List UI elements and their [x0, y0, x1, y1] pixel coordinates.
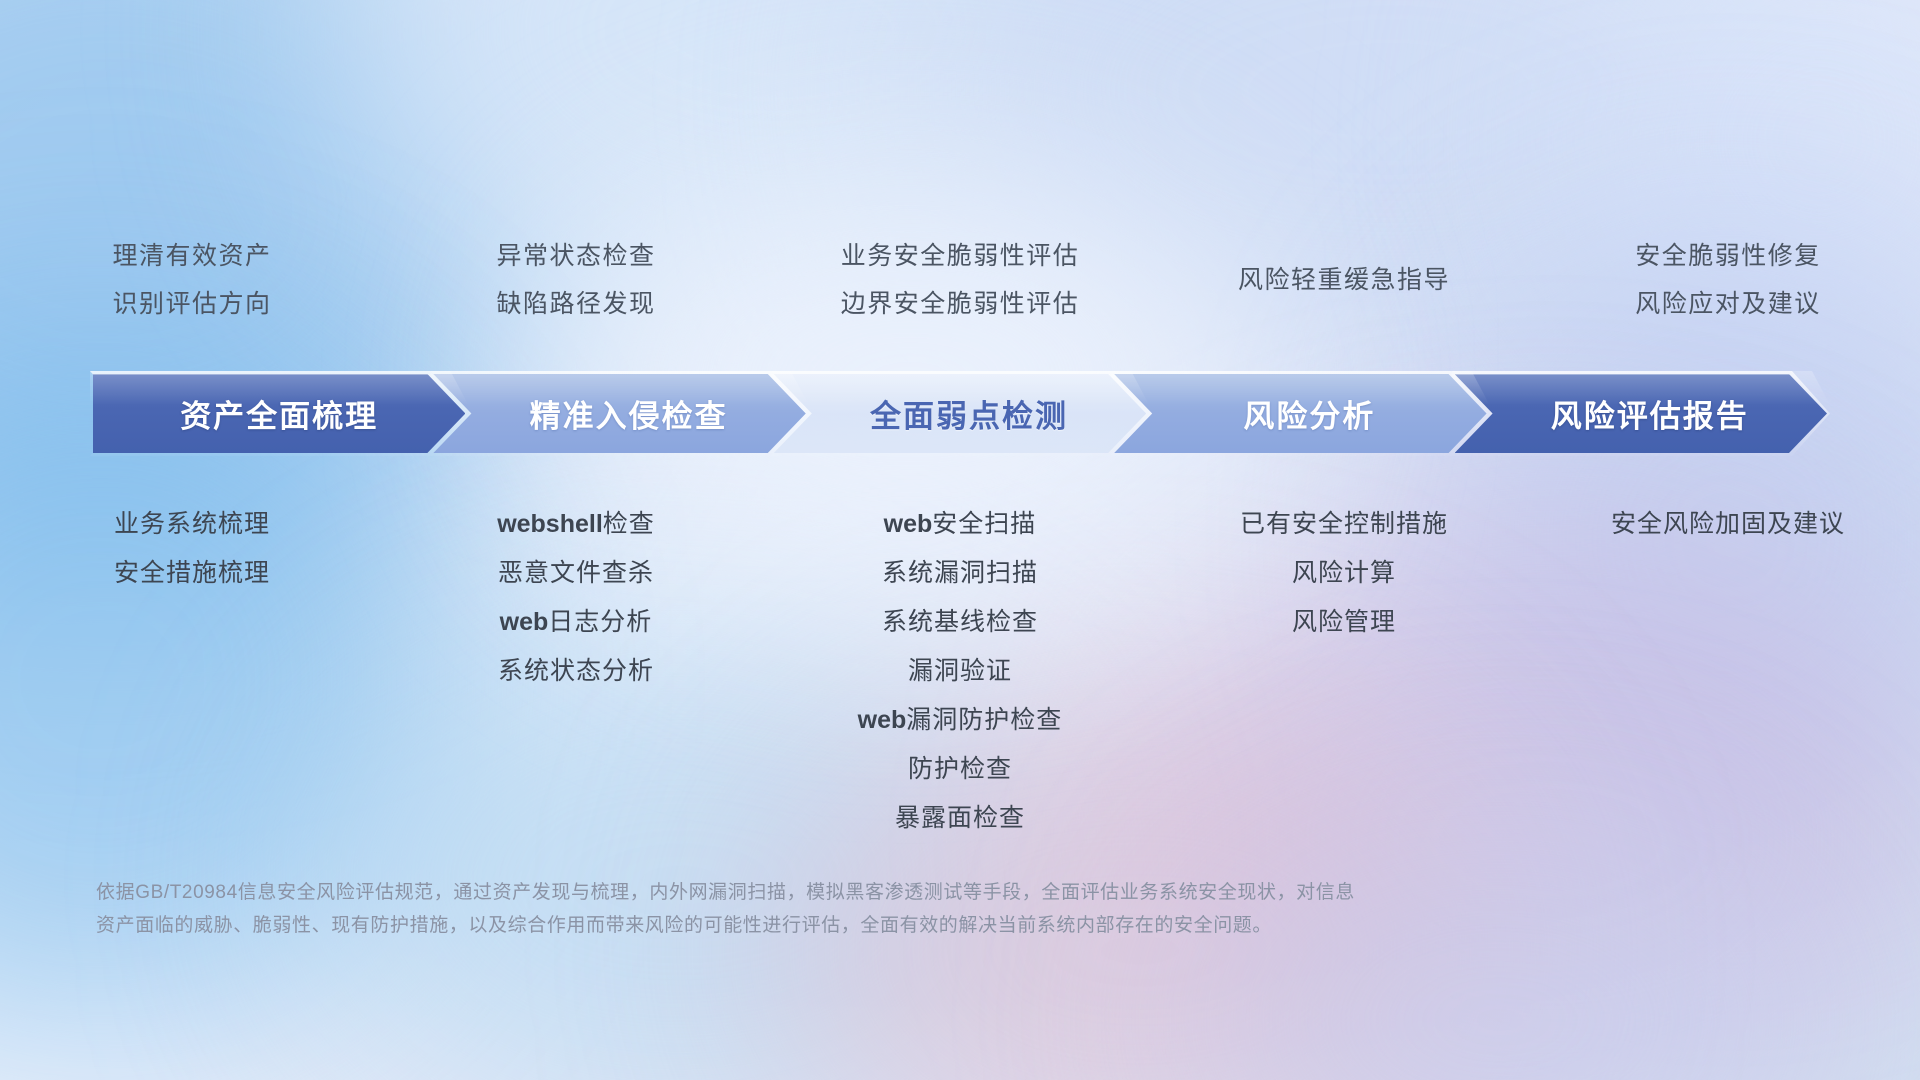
list-item-text: 安全措施梳理	[114, 559, 270, 587]
stage-label: 风险评估报告	[1551, 391, 1749, 436]
list-item-text: 日志分析	[548, 608, 652, 636]
top-label: 识别评估方向	[0, 280, 384, 328]
top-labels-asset-inventory: 理清有效资产识别评估方向	[0, 232, 384, 328]
list-item-text: 安全风险加固及建议	[1611, 510, 1845, 538]
footer-line-2: 资产面临的威胁、脆弱性、现有防护措施，以及综合作用而带来风险的可能性进行评估，全…	[96, 909, 1636, 942]
stage-label: 全面弱点检测	[870, 391, 1068, 436]
footer-line-1: 依据GB/T20984信息安全风险评估规范，通过资产发现与梳理，内外网漏洞扫描，…	[96, 876, 1636, 909]
list-item-prefix: web	[884, 510, 933, 538]
list-item-text: 漏洞防护检查	[906, 706, 1062, 734]
stage-label: 资产全面梳理	[180, 391, 378, 436]
top-label: 业务安全脆弱性评估	[768, 232, 1152, 280]
list-item: web安全扫描	[768, 500, 1152, 549]
list-item-text: 风险计算	[1292, 559, 1396, 587]
detail-list-weakness-detection: web安全扫描系统漏洞扫描系统基线检查漏洞验证web漏洞防护检查防护检查暴露面检…	[768, 500, 1152, 843]
detail-list-risk-report: 安全风险加固及建议	[1536, 500, 1920, 843]
bottom-list-row: 业务系统梳理安全措施梳理webshell检查恶意文件查杀web日志分析系统状态分…	[0, 500, 1920, 843]
list-item: 恶意文件查杀	[384, 549, 768, 598]
list-item: 风险管理	[1152, 598, 1536, 647]
footer-description: 依据GB/T20984信息安全风险评估规范，通过资产发现与梳理，内外网漏洞扫描，…	[96, 876, 1636, 942]
top-label: 缺陷路径发现	[384, 280, 768, 328]
top-labels-weakness-detection: 业务安全脆弱性评估边界安全脆弱性评估	[768, 232, 1152, 328]
stage-arrow-risk-report[interactable]: 风险评估报告	[1452, 371, 1830, 456]
list-item: 系统状态分析	[384, 647, 768, 696]
list-item-prefix: web	[500, 608, 549, 636]
stage-arrow-asset-inventory[interactable]: 资产全面梳理	[90, 371, 468, 456]
list-item: 防护检查	[768, 745, 1152, 794]
stage-label: 精准入侵检查	[530, 391, 728, 436]
top-labels-risk-analysis: 风险轻重缓急指导	[1152, 232, 1536, 328]
list-item: 业务系统梳理	[0, 500, 384, 549]
list-item-text: 漏洞验证	[908, 657, 1012, 685]
list-item: 安全风险加固及建议	[1536, 500, 1920, 549]
list-item-text: 恶意文件查杀	[498, 559, 654, 587]
top-labels-risk-report: 安全脆弱性修复风险应对及建议	[1536, 232, 1920, 328]
list-item-text: 系统基线检查	[882, 608, 1038, 636]
detail-list-asset-inventory: 业务系统梳理安全措施梳理	[0, 500, 384, 843]
list-item-text: 系统状态分析	[498, 657, 654, 685]
top-label: 边界安全脆弱性评估	[768, 280, 1152, 328]
top-labels-intrusion-check: 异常状态检查缺陷路径发现	[384, 232, 768, 328]
top-label: 风险轻重缓急指导	[1152, 256, 1536, 304]
list-item: 系统漏洞扫描	[768, 549, 1152, 598]
list-item: 风险计算	[1152, 549, 1536, 598]
stage-arrow-risk-analysis[interactable]: 风险分析	[1111, 371, 1489, 456]
list-item: web漏洞防护检查	[768, 696, 1152, 745]
list-item-text: 暴露面检查	[895, 804, 1025, 832]
stage-arrow-intrusion-check[interactable]: 精准入侵检查	[430, 371, 808, 456]
top-label: 理清有效资产	[0, 232, 384, 280]
list-item: 漏洞验证	[768, 647, 1152, 696]
list-item: web日志分析	[384, 598, 768, 647]
list-item-text: 检查	[603, 510, 655, 538]
detail-list-intrusion-check: webshell检查恶意文件查杀web日志分析系统状态分析	[384, 500, 768, 843]
detail-list-risk-analysis: 已有安全控制措施风险计算风险管理	[1152, 500, 1536, 843]
stage-label: 风险分析	[1243, 391, 1375, 436]
list-item-text: 防护检查	[908, 755, 1012, 783]
list-item-text: 安全扫描	[932, 510, 1036, 538]
top-label: 异常状态检查	[384, 232, 768, 280]
slide-canvas: 理清有效资产识别评估方向异常状态检查缺陷路径发现业务安全脆弱性评估边界安全脆弱性…	[0, 0, 1920, 1080]
list-item: 暴露面检查	[768, 794, 1152, 843]
process-arrow-band: 资产全面梳理精准入侵检查全面弱点检测风险分析风险评估报告	[90, 371, 1830, 456]
list-item-text: 已有安全控制措施	[1240, 510, 1448, 538]
list-item-prefix: web	[858, 706, 907, 734]
list-item: webshell检查	[384, 500, 768, 549]
top-label: 安全脆弱性修复	[1536, 232, 1920, 280]
top-label-row: 理清有效资产识别评估方向异常状态检查缺陷路径发现业务安全脆弱性评估边界安全脆弱性…	[0, 232, 1920, 328]
list-item-text: 系统漏洞扫描	[882, 559, 1038, 587]
stage-arrow-weakness-detection[interactable]: 全面弱点检测	[771, 371, 1149, 456]
list-item: 系统基线检查	[768, 598, 1152, 647]
list-item-prefix: webshell	[497, 510, 603, 538]
list-item: 安全措施梳理	[0, 549, 384, 598]
list-item-text: 风险管理	[1292, 608, 1396, 636]
list-item: 已有安全控制措施	[1152, 500, 1536, 549]
top-label: 风险应对及建议	[1536, 280, 1920, 328]
list-item-text: 业务系统梳理	[114, 510, 270, 538]
